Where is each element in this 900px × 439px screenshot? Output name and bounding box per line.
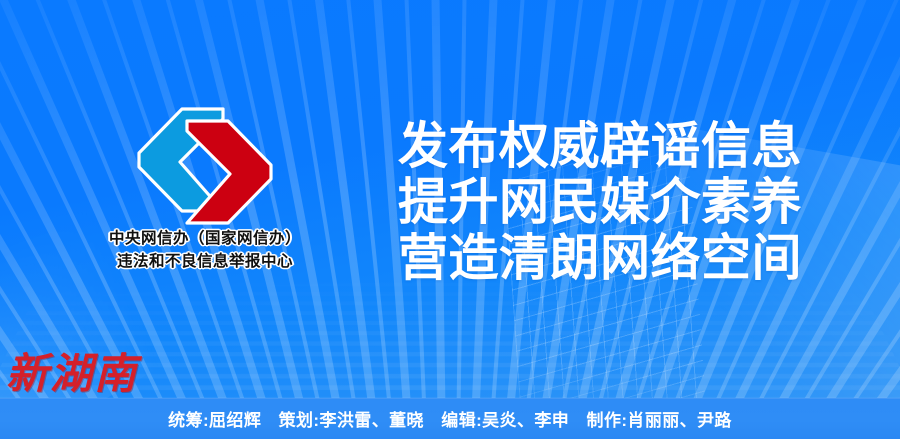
slogan-line-3: 营造清朗网络空间 [398, 230, 818, 286]
slogan-block: 发布权威辟谣信息 提升网民媒介素养 营造清朗网络空间 [398, 118, 818, 286]
emblem-caption-line-2: 违法和不良信息举报中心 [70, 252, 340, 271]
watermark-chinese-wordmark: 新湖南 [6, 352, 196, 398]
emblem-caption-line-1: 中央网信办（国家网信办） [70, 229, 340, 248]
credits-text: 统筹:屈绍辉 策划:李洪雷、董晓 编辑:吴炎、李申 制作:肖丽丽、尹路 [168, 406, 732, 431]
credits-bar: 统筹:屈绍辉 策划:李洪雷、董晓 编辑:吴炎、李申 制作:肖丽丽、尹路 [0, 398, 900, 439]
slogan-line-1: 发布权威辟谣信息 [398, 118, 818, 174]
slogan-line-2: 提升网民媒介素养 [398, 174, 818, 230]
interlocking-chevrons-logo-icon [135, 105, 275, 225]
reporting-center-logo-block: 中央网信办（国家网信办） 违法和不良信息举报中心 [70, 105, 340, 271]
promotional-banner: 中央网信办（国家网信办） 违法和不良信息举报中心 发布权威辟谣信息 提升网民媒介… [0, 0, 900, 439]
